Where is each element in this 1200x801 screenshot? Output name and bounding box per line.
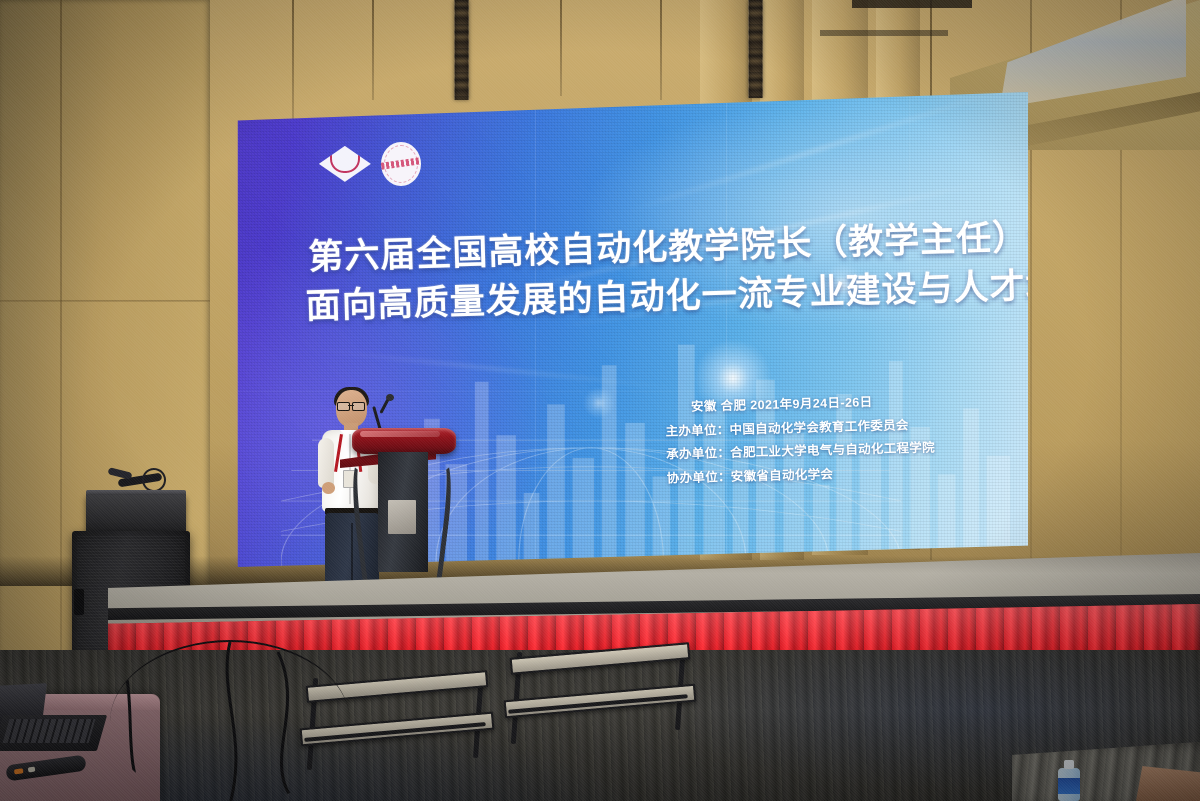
av-cable-run xyxy=(110,640,350,801)
wall-mosaic-strip-right xyxy=(748,0,763,98)
wall-seam-3 xyxy=(292,0,294,120)
caa-lens-logo-icon xyxy=(319,146,371,182)
organizer-host: 主办单位：中国自动化学会教育工作委员会 xyxy=(666,418,935,438)
organizer-undertaker: 承办单位：合肥工业大学电气与自动化工程学院 xyxy=(666,442,935,462)
lens-flare-3 xyxy=(583,387,615,419)
stage-steps-right xyxy=(506,648,706,748)
laptop-keyboard[interactable] xyxy=(3,719,96,743)
water-bottle[interactable] xyxy=(1058,760,1080,801)
conference-info-block: 安徽 合肥 2021年9月24日-26日 主办单位：中国自动化学会教育工作委员会… xyxy=(665,395,936,496)
left-wall-seam-1 xyxy=(60,0,62,690)
person-arm-left xyxy=(318,438,334,488)
conference-headline: 第六届全国高校自动化教学院长（教学主任）会议 面向高质量发展的自动化一流专业建设… xyxy=(308,220,1021,324)
headline-line-2: 面向高质量发展的自动化一流专业建设与人才培养 xyxy=(306,269,1021,325)
wall-seam-4 xyxy=(372,0,374,100)
microphone-head-icon xyxy=(386,394,394,401)
podium-emblem-plate xyxy=(388,500,416,534)
left-wall-seam-2 xyxy=(0,300,210,302)
conference-photo-scene: 第六届全国高校自动化教学院长（教学主任）会议 面向高质量发展的自动化一流专业建设… xyxy=(0,0,1200,801)
podium-top-rail xyxy=(352,428,456,454)
person-hand-left xyxy=(322,482,335,494)
wall-seam-5 xyxy=(560,0,562,96)
logo-row xyxy=(319,142,421,186)
hfut-circle-logo-icon xyxy=(381,142,421,186)
person-glasses xyxy=(337,402,365,409)
ceiling-recess-2 xyxy=(820,30,948,36)
amplifier-rack xyxy=(86,495,186,535)
wall-mosaic-strip-left xyxy=(454,0,469,100)
headline-line-1: 第六届全国高校自动化教学院长（教学主任）会议 xyxy=(308,220,1019,276)
led-module-seam-v2 xyxy=(726,92,727,567)
led-module-seam-v1 xyxy=(535,92,536,567)
organizer-coorganizer: 协办单位：安徽省自动化学会 xyxy=(667,465,936,485)
wall-seam-6 xyxy=(660,0,662,100)
led-module-seam-v3 xyxy=(909,92,910,567)
light-streak-4 xyxy=(624,92,1003,214)
ceiling-recess-1 xyxy=(852,0,972,8)
